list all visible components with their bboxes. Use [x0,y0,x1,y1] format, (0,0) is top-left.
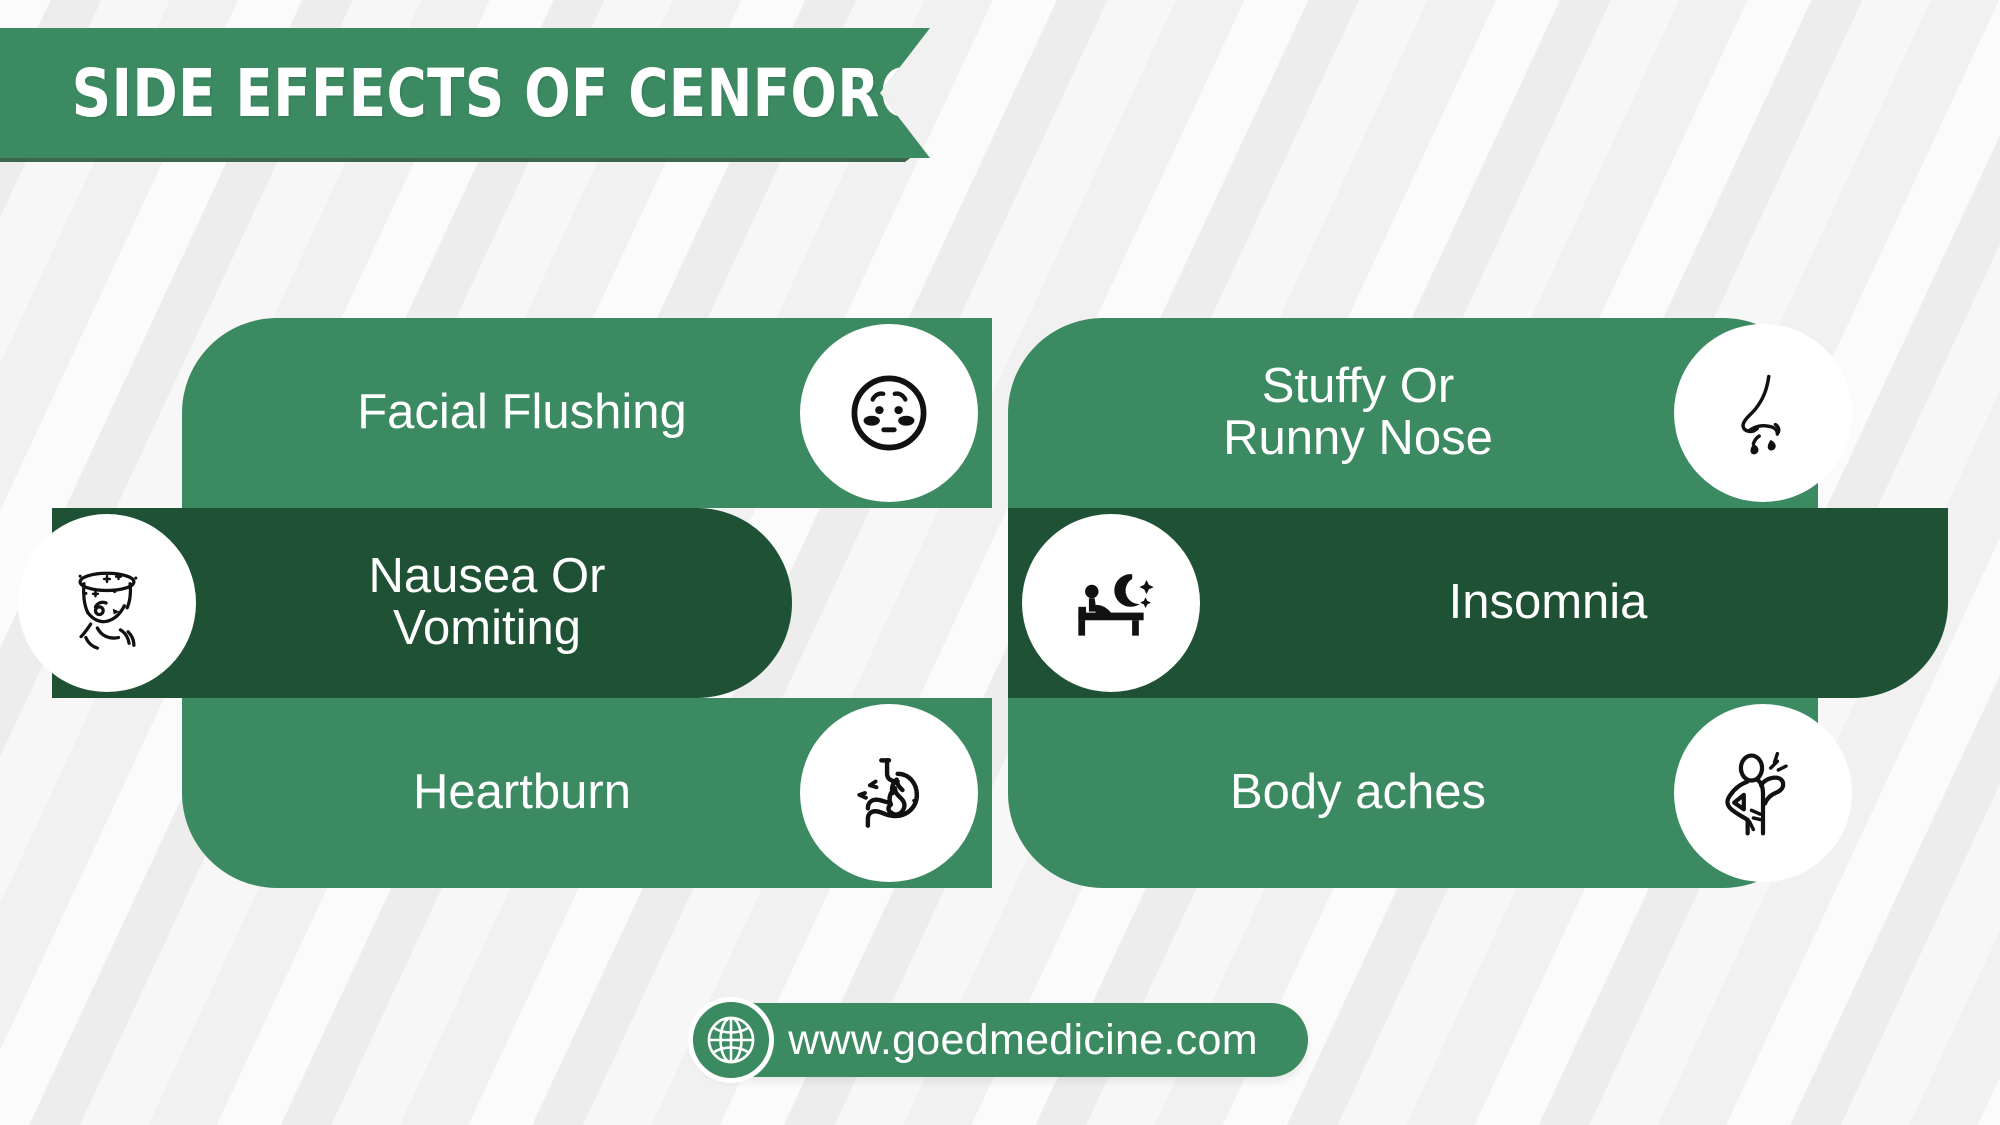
card-insomnia[interactable]: Insomnia [1008,508,1948,698]
globe-icon [688,997,774,1083]
stomach-flame-icon [814,718,964,868]
insomnia-bed-moon-icon [1036,528,1186,678]
card-facial-flushing[interactable]: Facial Flushing [182,318,992,508]
infographic-poster: SIDE EFFECTS OF CENFORCE Facial Flushing [0,0,2000,1125]
dizzy-nausea-icon [32,528,182,678]
card-heartburn[interactable]: Heartburn [182,698,992,888]
runny-nose-icon [1688,338,1838,488]
card-stuffy-or-runny-nose[interactable]: Stuffy Or Runny Nose [1008,318,1818,508]
website-badge[interactable]: www.goedmedicine.com [692,1003,1308,1077]
website-url: www.goedmedicine.com [788,1016,1258,1065]
card-body-aches[interactable]: Body aches [1008,698,1818,888]
card-nausea-or-vomiting[interactable]: Nausea Or Vomiting [52,508,792,698]
back-pain-icon [1688,718,1838,868]
header-banner: SIDE EFFECTS OF CENFORCE [0,28,930,158]
footer: www.goedmedicine.com [0,1003,2000,1077]
card-column-right: Stuffy Or Runny Nose [1008,318,1948,888]
card-column-left: Facial Flushing [52,318,992,888]
flushed-face-icon [814,338,964,488]
page-title: SIDE EFFECTS OF CENFORCE [0,55,958,132]
